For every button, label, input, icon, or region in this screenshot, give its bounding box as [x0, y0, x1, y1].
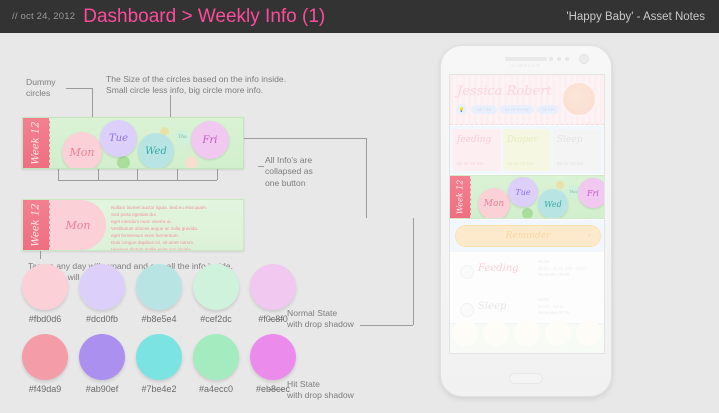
day-label: Wed [145, 146, 167, 157]
swatch-label: #dcd0fb [73, 314, 131, 324]
chevron-right-icon: › [587, 231, 591, 241]
row-title: Feeding [478, 263, 519, 274]
phone-speaker [505, 57, 547, 61]
row-status-circle [460, 303, 474, 317]
reminder-label: Reminder [506, 231, 551, 241]
week-tab[interactable]: Week 12 [23, 200, 50, 250]
week-tab[interactable]: Week 12 [450, 176, 471, 218]
day-label: Thu [569, 189, 577, 194]
week-tab-label: Week 12 [31, 121, 42, 164]
bracket-tick [137, 169, 138, 180]
leader-line [40, 251, 41, 259]
day-circle-fri[interactable]: Fri [578, 178, 604, 208]
phone-brand-label: SAMSUNG [511, 63, 541, 68]
day-circle-fri[interactable]: Fri [191, 121, 229, 159]
day-label: Wed [544, 200, 561, 209]
leader-line [366, 138, 367, 218]
week-widget-expanded[interactable]: Week 12 Mon Nullam laoreet auctor ligula… [22, 199, 244, 251]
avatar[interactable] [561, 81, 597, 117]
bracket-tick [217, 169, 218, 180]
day-label: Mon [70, 146, 95, 159]
row-time-big: 04:00 [538, 297, 569, 304]
body-line: Duis congue dapibus mi, sit amet rutrum. [111, 240, 237, 247]
dummy-circle [185, 156, 198, 169]
day-circle-wed[interactable]: Wed [138, 133, 174, 169]
card-value: 04 Hr 15 Mn [507, 162, 533, 167]
row-details: 00:49 11:31 - 11:32 (left - right) Remin… [538, 259, 586, 279]
day-label: Fri [203, 135, 218, 146]
week-tab[interactable]: Week 12 [23, 118, 50, 168]
swatch-hit-1[interactable] [22, 334, 68, 380]
reminder-button[interactable]: Reminder › [455, 225, 601, 247]
swatch-hit-4[interactable] [193, 334, 239, 380]
swatch-normal-2[interactable] [79, 264, 125, 310]
nav-item[interactable] [512, 324, 543, 353]
swatch-label: #b8e5e4 [130, 314, 188, 324]
card-title: Diaper [507, 135, 538, 145]
nav-item[interactable] [542, 324, 573, 353]
swatch-label: #fbd0d6 [16, 314, 74, 324]
leader-line [92, 88, 93, 117]
led-indicator-icon [549, 57, 553, 61]
body-line: Vestibulum ultrices augue ac nulla gravi… [111, 226, 237, 233]
swatch-row-normal: #fbd0d6 #dcd0fb #b8e5e4 #cef2dc #f0c8f0 [22, 264, 322, 328]
day-circle-mon[interactable]: Mon [62, 132, 102, 169]
dummy-circle [522, 208, 533, 219]
day-circle-tue[interactable]: Tue [100, 120, 137, 157]
dummy-circle [117, 156, 130, 169]
week-tab-label: Week 12 [31, 203, 42, 246]
note-size-line2: Small circle less info, big circle more … [106, 85, 336, 96]
swatch-normal-3[interactable] [136, 264, 182, 310]
swatch-label: #f49da9 [16, 384, 74, 394]
day-circle-thu[interactable]: Thu [175, 130, 190, 145]
phone-mockup: SAMSUNG Jessica Robert 💡 12 / 30 11 Hr 0… [440, 45, 612, 397]
body-line: Sed porta egestas dui. [111, 212, 237, 219]
row-time-range: 04:00 - 20:12 [538, 304, 569, 311]
row-details: 04:00 04:00 - 20:12 Reminder 00:05 [538, 297, 569, 317]
proximity-sensor-icon [565, 57, 569, 61]
note-collapsed: All Info’s are collapsed as one button [265, 155, 355, 189]
note-size-line1: The Size of the circles based on the inf… [106, 74, 336, 85]
home-button[interactable] [509, 373, 543, 384]
day-circle-tue[interactable]: Tue [508, 177, 538, 207]
day-label: Mon [484, 199, 504, 209]
user-name: Jessica Robert [457, 84, 552, 99]
header-date: // oct 24, 2012 [12, 11, 75, 22]
note-collapsed-line2: collapsed as [265, 166, 355, 177]
bracket-tick [58, 169, 59, 180]
card-diaper[interactable]: Diaper 04 Hr 15 Mn [503, 129, 551, 171]
card-sleep[interactable]: Sleep 03 Hr 01 Mn [553, 129, 601, 171]
bottom-nav[interactable] [450, 323, 604, 353]
day-circle-wed[interactable]: Wed [538, 189, 568, 219]
body-line: eget fermentum enim fermentum. [111, 233, 237, 240]
swatch-row-hit: #f49da9 #ab90ef #7be4e2 #a4ecc0 #eb8cec [22, 334, 322, 398]
app-header: // oct 24, 2012 Dashboard > Weekly Info … [0, 0, 719, 33]
swatch-normal-1[interactable] [22, 264, 68, 310]
day-label: Thu [178, 135, 187, 140]
card-title: feeding [457, 135, 491, 145]
week-tab-label: Week 12 [456, 180, 465, 215]
expanded-body-text: Nullam laoreet auctor ligula. Sed eu era… [111, 205, 237, 251]
day-circle-mon[interactable]: Mon [478, 188, 510, 219]
leader-line [258, 166, 264, 167]
project-label: 'Happy Baby' - Asset Notes [566, 11, 705, 23]
leader-line [170, 95, 171, 117]
week-widget-collapsed[interactable]: Week 12 Mon Tue Wed Thu Fri [22, 117, 244, 169]
card-title: Sleep [557, 135, 582, 145]
badge-weight: 12 / 30 [471, 105, 497, 114]
bracket-tick [98, 169, 99, 180]
swatch-label: #f0c8f0 [244, 314, 302, 324]
bracket-line [58, 180, 217, 181]
page-title: Dashboard > Weekly Info (1) [83, 6, 325, 28]
phone-screen: Jessica Robert 💡 12 / 30 11 Hr 04 Mn 74 … [449, 74, 605, 354]
swatch-hit-2[interactable] [79, 334, 125, 380]
profile-header: Jessica Robert 💡 12 / 30 11 Hr 04 Mn 74 … [450, 75, 604, 125]
note-collapsed-line1: All Info’s are [265, 155, 355, 166]
dummy-circle [556, 181, 564, 189]
phone-week-widget[interactable]: Week 12 Mon Tue Wed Thu Fri [450, 175, 604, 219]
card-value: 03 Hr 01 Mn [557, 162, 583, 167]
bulb-icon: 💡 [456, 104, 467, 115]
badge-height: 74 Cm [537, 105, 559, 114]
swatch-label: #ab90ef [73, 384, 131, 394]
row-remainder: Reminder 00:05 [538, 272, 586, 279]
leader-line [66, 88, 92, 89]
swatch-label: #eb8cec [244, 384, 302, 394]
row-status-circle [460, 265, 474, 279]
body-line: Nullam laoreet auctor ligula. Sed eu era… [111, 205, 237, 212]
summary-cards: feeding 01 Hr 22 Mn Diaper 04 Hr 15 Mn S… [450, 126, 604, 174]
swatch-label: #a4ecc0 [187, 384, 245, 394]
front-camera-icon [579, 54, 589, 64]
card-feeding[interactable]: feeding 01 Hr 22 Mn [453, 129, 501, 171]
row-time-big: 00:49 [538, 259, 586, 266]
bracket-tick [177, 169, 178, 180]
swatch-label: #7be4e2 [130, 384, 188, 394]
nav-item[interactable] [481, 324, 512, 353]
row-remainder: Reminder 00:05 [538, 310, 569, 317]
leader-line [413, 218, 414, 325]
note-collapsed-line3: one button [265, 178, 355, 189]
day-label: Fri [587, 189, 599, 198]
annotation-canvas: Dummy circles The Size of the circles ba… [0, 33, 430, 413]
swatch-normal-4[interactable] [193, 264, 239, 310]
row-title: Sleep [478, 301, 506, 312]
card-value: 01 Hr 22 Mn [457, 162, 483, 167]
swatch-hit-3[interactable] [136, 334, 182, 380]
body-line: Vivamus dictum mollis enim non lacinia. [111, 247, 237, 251]
day-label: Tue [109, 133, 128, 144]
note-dummy-line2: circles [26, 88, 86, 99]
note-dummy-line1: Dummy [26, 77, 86, 88]
expanded-day-label[interactable]: Mon [50, 200, 106, 250]
light-sensor-icon [557, 57, 561, 61]
nav-item[interactable] [573, 324, 604, 353]
badge-duration: 11 Hr 04 Mn [500, 105, 534, 114]
swatch-hit-5[interactable] [250, 334, 296, 380]
note-circle-size: The Size of the circles based on the inf… [106, 74, 336, 97]
swatch-label: #cef2dc [187, 314, 245, 324]
nav-item[interactable] [450, 324, 481, 353]
body-line: eget interdum nunc viverra ut. [111, 219, 237, 226]
row-time-range: 11:31 - 11:32 (left - right) [538, 266, 586, 273]
leader-line [360, 325, 413, 326]
day-label: Tue [515, 188, 530, 197]
swatch-normal-5[interactable] [250, 264, 296, 310]
list-item[interactable]: Feeding 00:49 11:31 - 11:32 (left - righ… [450, 255, 604, 291]
